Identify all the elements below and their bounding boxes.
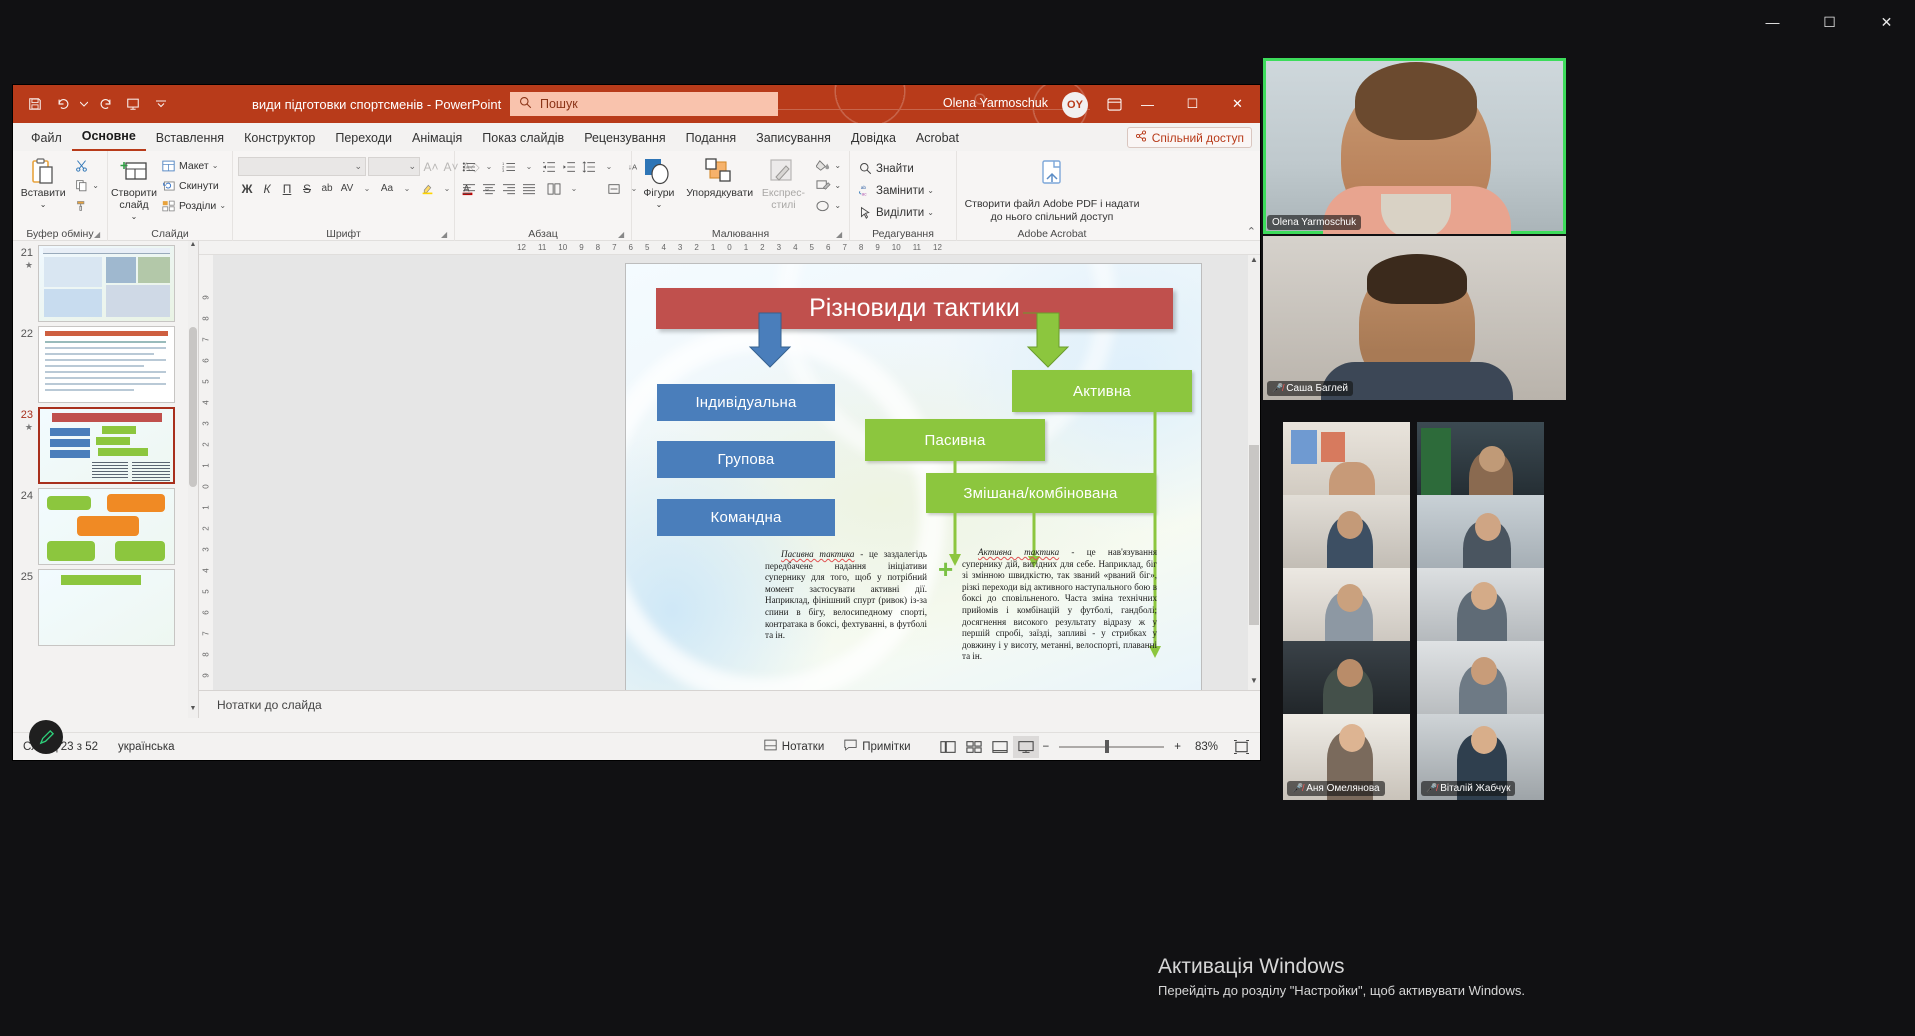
tab-review[interactable]: Рецензування xyxy=(574,128,675,151)
strikethrough-icon[interactable]: S xyxy=(298,179,316,198)
ribbon-group-slides: Створити слайд ⌄ Макет ⌄ xyxy=(108,151,233,241)
slide-canvas[interactable]: Різновиди тактики І xyxy=(626,264,1201,697)
passive-tactic-paragraph[interactable]: Пасивна тактика - це заздалегідь передба… xyxy=(765,549,927,642)
status-right-group: Нотатки Примітки xyxy=(754,736,1260,758)
ribbon: Вставити ⌄ ⌄ xyxy=(13,151,1260,241)
scroll-down-icon[interactable]: ▼ xyxy=(188,705,198,718)
search-box[interactable]: Пошук xyxy=(510,92,778,116)
text-highlight-icon[interactable] xyxy=(418,179,436,198)
svg-text:3: 3 xyxy=(502,169,504,173)
video-tile-main-speaker[interactable]: Olena Yarmoschuk xyxy=(1263,58,1566,234)
font-family-select[interactable]: ⌄ xyxy=(238,157,366,176)
ruler-tick: 8 xyxy=(859,243,863,252)
tab-slideshow[interactable]: Показ слайдів xyxy=(472,128,574,151)
ruler-tick: 4 xyxy=(661,243,665,252)
thumbnail-number: 22 xyxy=(17,326,33,340)
slide-box-label: Індивідуальна xyxy=(695,394,796,411)
zoom-slider[interactable] xyxy=(1059,736,1164,758)
undo-icon[interactable] xyxy=(50,91,76,117)
zoom-knob[interactable] xyxy=(1105,740,1109,753)
shape-fill-button[interactable]: ⌄ xyxy=(813,156,844,175)
shapes-button[interactable]: Фігури ⌄ xyxy=(637,154,681,211)
video-tile-grid-10[interactable]: 🎤̸ Віталій Жабчук xyxy=(1417,714,1544,800)
ribbon-group-font: ⌄ ⌄ A˄ A˅ A◇ Ж К П S ab AV ⌄ Aa xyxy=(233,151,455,241)
paragraph-row-2: ⌄ ⌄ xyxy=(460,179,643,198)
slides-group-label: Слайди xyxy=(113,227,227,241)
numbered-list-icon[interactable]: 123 xyxy=(500,157,518,176)
new-slide-button[interactable]: Створити слайд ⌄ xyxy=(113,154,155,223)
section-label: Розділи xyxy=(179,200,216,212)
fit-slide-icon[interactable] xyxy=(1228,736,1254,758)
zoom-track xyxy=(1059,746,1164,748)
vruler-tick: 5 xyxy=(201,379,210,383)
notes-toggle-button[interactable]: Нотатки xyxy=(754,739,834,754)
editor-scroll-up-icon[interactable]: ▲ xyxy=(1248,255,1260,269)
shape-outline-icon xyxy=(816,178,831,193)
active-tactic-body: - це нав'язування супернику дій, вигідни… xyxy=(962,547,1157,661)
plus-sign: + xyxy=(938,556,953,582)
thumbnail-23[interactable]: 23 ★ xyxy=(13,403,198,484)
outer-maximize-button[interactable]: ☐ xyxy=(1801,0,1858,44)
replace-label: Замінити xyxy=(876,185,924,197)
align-center-icon[interactable] xyxy=(480,179,498,198)
thumbnail-image[interactable] xyxy=(38,407,175,484)
share-label: Спільний доступ xyxy=(1152,131,1244,145)
bulleted-list-icon[interactable] xyxy=(460,157,478,176)
thumbnail-number: 23 xyxy=(17,407,33,421)
shape-fill-dropdown-icon[interactable]: ⌄ xyxy=(834,161,841,170)
align-right-icon[interactable] xyxy=(500,179,518,198)
video-name-badge: Olena Yarmoschuk xyxy=(1267,215,1361,230)
passive-tactic-body: - це заздалегідь передбачене надання іні… xyxy=(765,549,927,640)
create-pdf-icon xyxy=(1038,160,1066,195)
ribbon-group-acrobat: Створити файл Adobe PDF і надати до ньог… xyxy=(957,151,1147,241)
notes-label: Нотатки xyxy=(782,741,824,753)
increase-font-size-icon[interactable]: A˄ xyxy=(422,157,440,176)
reset-icon xyxy=(161,178,176,193)
ruler-tick: 2 xyxy=(694,243,698,252)
quick-styles-icon xyxy=(768,157,798,187)
video-name-badge: 🎤̸ Аня Омелянова xyxy=(1287,781,1385,796)
tab-insert[interactable]: Вставлення xyxy=(146,128,234,151)
thumbnail-image[interactable] xyxy=(38,245,175,322)
arrange-icon xyxy=(704,157,736,187)
ruler-tick: 12 xyxy=(517,243,526,252)
slide-box-label: Командна xyxy=(711,509,782,526)
thumbnail-scrollbar[interactable]: ▲ ▼ xyxy=(188,241,198,718)
slideshow-view-button[interactable] xyxy=(1013,736,1039,758)
avatar[interactable]: OY xyxy=(1062,92,1088,118)
shape-effects-icon xyxy=(816,198,831,213)
search-input[interactable]: Пошук xyxy=(540,97,578,111)
columns-icon[interactable] xyxy=(545,179,563,198)
replace-button[interactable]: abac Замінити ⌄ xyxy=(855,180,937,201)
comments-label: Примітки xyxy=(862,741,910,753)
thumbnail-scroll-thumb[interactable] xyxy=(189,327,197,487)
language-indicator[interactable]: українська xyxy=(108,741,185,753)
justify-icon[interactable] xyxy=(520,179,538,198)
ruler-tick: 5 xyxy=(645,243,649,252)
video-tile-grid-9[interactable]: 🎤̸ Аня Омелянова xyxy=(1283,714,1410,800)
horizontal-ruler: 12 11 10 9 8 7 6 5 4 3 2 1 0 1 2 3 4 xyxy=(199,241,1260,255)
tab-recording[interactable]: Записування xyxy=(746,128,841,151)
qat-more-icon[interactable] xyxy=(148,91,174,117)
quick-access-toolbar[interactable] xyxy=(13,91,174,117)
clipboard-group-label: Буфер обміну xyxy=(18,227,102,241)
underline-icon[interactable]: П xyxy=(278,179,296,198)
ppt-minimize-button[interactable]: — xyxy=(1125,85,1170,123)
line-spacing-icon[interactable] xyxy=(580,157,598,176)
thumbnail-21[interactable]: 21 ★ xyxy=(13,241,198,322)
paste-dropdown-icon[interactable]: ⌄ xyxy=(40,199,47,211)
vruler-tick: 6 xyxy=(201,358,210,362)
find-icon xyxy=(858,161,873,176)
powerpoint-window: види підготовки спортсменів - PowerPoint… xyxy=(13,85,1260,760)
vruler-tick: 1 xyxy=(201,463,210,467)
slide-editor[interactable]: 12 11 10 9 8 7 6 5 4 3 2 1 0 1 2 3 4 xyxy=(199,241,1260,718)
text-shadow-icon[interactable]: ab xyxy=(318,179,336,198)
zoom-out-button[interactable]: − xyxy=(1039,741,1054,753)
section-button[interactable]: Розділи ⌄ xyxy=(158,196,229,215)
ppt-close-button[interactable]: ✕ xyxy=(1215,85,1260,123)
ruler-tick: 10 xyxy=(892,243,901,252)
ruler-tick: 7 xyxy=(842,243,846,252)
account-name: Olena Yarmoschuk xyxy=(943,96,1048,110)
outer-close-button[interactable]: ✕ xyxy=(1858,0,1915,44)
thumbnail-number: 24 xyxy=(17,488,33,502)
redo-icon[interactable] xyxy=(92,91,118,117)
ruler-tick: 6 xyxy=(629,243,633,252)
vruler-tick: 4 xyxy=(201,400,210,404)
active-tactic-lead: Активна тактика xyxy=(978,547,1059,557)
notes-icon xyxy=(764,739,777,754)
mic-muted-icon: 🎤̸ xyxy=(1426,783,1437,794)
notes-pane[interactable]: Нотатки до слайда xyxy=(199,690,1260,718)
collapse-ribbon-icon[interactable]: ⌃ xyxy=(1247,225,1256,238)
clipboard-dialog-launcher-icon[interactable]: ◢ xyxy=(94,230,104,240)
windows-activation-watermark: Активація Windows Перейдіть до розділу "… xyxy=(1158,955,1525,998)
vruler-tick: 7 xyxy=(201,631,210,635)
tab-help[interactable]: Довідка xyxy=(841,128,906,151)
ribbon-group-editing: Знайти abac Замінити ⌄ xyxy=(850,151,957,241)
slide-box-group[interactable]: Групова xyxy=(657,441,835,478)
tab-file[interactable]: Файл xyxy=(21,128,72,151)
paste-label: Вставити xyxy=(21,187,66,199)
video-participant-name: Віталій Жабчук xyxy=(1440,783,1510,794)
italic-icon[interactable]: К xyxy=(258,179,276,198)
reset-button[interactable]: Скинути xyxy=(158,176,229,195)
pen-annotation-badge[interactable] xyxy=(29,720,63,754)
tab-acrobat[interactable]: Acrobat xyxy=(906,128,969,151)
select-dropdown-icon[interactable]: ⌄ xyxy=(927,208,934,217)
line-spacing-dropdown-icon[interactable]: ⌄ xyxy=(600,157,618,176)
green-arrow-down xyxy=(1021,309,1111,379)
scissors-icon xyxy=(74,158,89,173)
shape-fill-icon xyxy=(816,158,831,173)
paste-icon xyxy=(30,157,56,187)
tab-home[interactable]: Основне xyxy=(72,126,146,151)
ruler-tick: 1 xyxy=(744,243,748,252)
find-button[interactable]: Знайти xyxy=(855,158,937,179)
align-left-icon[interactable] xyxy=(460,179,478,198)
mic-muted-icon: 🎤̸ xyxy=(1292,783,1303,794)
slide-box-active[interactable]: Активна xyxy=(1012,370,1192,412)
new-slide-icon xyxy=(120,157,148,187)
ruler-tick: 9 xyxy=(875,243,879,252)
font-group-label: Шрифт xyxy=(238,227,449,241)
search-icon xyxy=(519,96,532,112)
slide-box-passive[interactable]: Пасивна xyxy=(865,419,1045,461)
decrease-indent-icon[interactable] xyxy=(540,157,558,176)
section-icon xyxy=(161,198,176,213)
editing-group-label: Редагування xyxy=(855,227,951,241)
new-slide-label: Створити слайд xyxy=(111,187,157,211)
zoom-level[interactable]: 83% xyxy=(1185,741,1228,753)
numbered-list-dropdown-icon[interactable]: ⌄ xyxy=(520,157,538,176)
ruler-tick: 7 xyxy=(612,243,616,252)
ribbon-group-clipboard: Вставити ⌄ ⌄ xyxy=(13,151,108,241)
select-button[interactable]: Виділити ⌄ xyxy=(855,202,937,223)
ribbon-display-options-icon[interactable] xyxy=(1102,93,1126,115)
vruler-tick: 4 xyxy=(201,568,210,572)
comments-icon xyxy=(844,739,857,754)
slide-sorter-button[interactable] xyxy=(961,736,987,758)
arrange-label: Упорядкувати xyxy=(686,187,753,199)
share-icon xyxy=(1135,130,1147,145)
layout-dropdown-icon[interactable]: ⌄ xyxy=(212,161,219,170)
comments-toggle-button[interactable]: Примітки xyxy=(834,739,920,754)
section-dropdown-icon[interactable]: ⌄ xyxy=(219,201,226,210)
tab-design[interactable]: Конструктор xyxy=(234,128,325,151)
video-name-badge: 🎤̸ Віталій Жабчук xyxy=(1421,781,1515,796)
shape-effects-button[interactable]: ⌄ xyxy=(813,196,844,215)
ruler-tick: 1 xyxy=(711,243,715,252)
ribbon-group-paragraph: ⌄ 123 ⌄ ⌄ xyxy=(455,151,632,241)
slide-box-label: Пасивна xyxy=(925,432,986,449)
change-case-icon[interactable]: Aa xyxy=(378,179,396,198)
blue-arrow-down xyxy=(726,309,796,379)
reading-view-button[interactable] xyxy=(987,736,1013,758)
find-label: Знайти xyxy=(876,163,914,175)
outer-window-controls[interactable]: — ☐ ✕ xyxy=(1744,0,1915,44)
copy-button[interactable]: ⌄ xyxy=(71,176,102,195)
active-tactic-paragraph[interactable]: Активна тактика - це нав'язування суперн… xyxy=(962,547,1157,663)
replace-dropdown-icon[interactable]: ⌄ xyxy=(927,186,934,195)
svg-text:ab: ab xyxy=(860,185,866,191)
shape-outline-dropdown-icon[interactable]: ⌄ xyxy=(834,181,841,190)
thumbnail-star-icon: ★ xyxy=(17,259,33,271)
thumbnail-number: 21 xyxy=(17,245,33,259)
ruler-tick: 3 xyxy=(777,243,781,252)
ruler-tick: 3 xyxy=(678,243,682,252)
vruler-tick: 3 xyxy=(201,547,210,551)
ruler-tick: 8 xyxy=(596,243,600,252)
vruler-tick: 9 xyxy=(201,673,210,677)
shapes-dropdown-icon[interactable]: ⌄ xyxy=(656,199,663,211)
vruler-tick: 2 xyxy=(201,526,210,530)
ruler-tick: 6 xyxy=(826,243,830,252)
character-spacing-icon[interactable]: AV xyxy=(338,179,356,198)
font-dialog-launcher-icon[interactable]: ◢ xyxy=(441,230,451,240)
vruler-tick: 5 xyxy=(201,589,210,593)
quick-styles-button[interactable]: Експрес-стилі xyxy=(759,154,809,211)
slide-thumbnail-pane[interactable]: 21 ★ 22 xyxy=(13,241,199,718)
ribbon-group-drawing: Фігури ⌄ Упорядкувати Експрес-стилі xyxy=(632,151,850,241)
thumbnail-image[interactable] xyxy=(38,326,175,403)
ruler-tick: 2 xyxy=(760,243,764,252)
reset-label: Скинути xyxy=(179,180,219,192)
arrange-button[interactable]: Упорядкувати xyxy=(684,154,756,199)
layout-label: Макет xyxy=(179,160,209,172)
character-spacing-dropdown-icon[interactable]: ⌄ xyxy=(358,179,376,198)
vertical-ruler: 9 8 7 6 5 4 3 2 1 0 1 2 3 4 5 6 7 xyxy=(199,255,213,718)
thumbnail-star-icon: ★ xyxy=(17,421,33,433)
tab-view[interactable]: Подання xyxy=(676,128,746,151)
drawing-dialog-launcher-icon[interactable]: ◢ xyxy=(836,230,846,240)
vruler-tick: 6 xyxy=(201,610,210,614)
vruler-tick: 2 xyxy=(201,442,210,446)
ruler-tick: 5 xyxy=(810,243,814,252)
shape-outline-button[interactable]: ⌄ xyxy=(813,176,844,195)
status-bar: Слайд 23 з 52 українська Нотатки Примітк… xyxy=(13,732,1260,760)
vruler-tick: 1 xyxy=(201,505,210,509)
drawing-group-label: Малювання xyxy=(637,227,844,241)
cut-button[interactable] xyxy=(71,156,102,175)
thumbnail-image[interactable] xyxy=(38,569,175,646)
video-participant-name: Olena Yarmoschuk xyxy=(1272,217,1356,228)
mic-muted-icon: 🎤̸ xyxy=(1272,383,1283,394)
ruler-tick: 10 xyxy=(558,243,567,252)
slide-box-team[interactable]: Командна xyxy=(657,499,835,536)
tab-animations[interactable]: Анімація xyxy=(402,128,472,151)
ruler-tick: 11 xyxy=(538,243,546,252)
thumbnail-image[interactable] xyxy=(38,488,175,565)
highlight-dropdown-icon[interactable]: ⌄ xyxy=(438,179,456,198)
thumbnail-24[interactable]: 24 xyxy=(13,484,198,565)
align-text-icon[interactable] xyxy=(605,179,623,198)
ruler-tick: 4 xyxy=(793,243,797,252)
video-tile-second[interactable]: 🎤̸ Саша Баглей xyxy=(1263,236,1566,400)
increase-indent-icon[interactable] xyxy=(560,157,578,176)
video-participant-name: Аня Омелянова xyxy=(1306,783,1379,794)
start-slideshow-icon[interactable] xyxy=(120,91,146,117)
paragraph-group-label: Абзац xyxy=(460,227,626,241)
thumbnail-25[interactable]: 25 xyxy=(13,565,198,646)
green-connector-passive xyxy=(948,460,962,568)
vruler-tick: 7 xyxy=(201,337,210,341)
video-participant-name: Саша Баглей xyxy=(1286,383,1348,394)
paste-button[interactable]: Вставити ⌄ xyxy=(18,154,68,211)
share-button[interactable]: Спільний доступ xyxy=(1127,127,1252,148)
editor-scroll-down-icon[interactable]: ▼ xyxy=(1248,676,1260,690)
title-bar: види підготовки спортсменів - PowerPoint… xyxy=(13,85,1260,123)
replace-icon: abac xyxy=(858,183,873,198)
document-title: види підготовки спортсменів - PowerPoint xyxy=(252,97,501,112)
layout-button[interactable]: Макет ⌄ xyxy=(158,156,229,175)
svg-text:ac: ac xyxy=(861,192,867,197)
shapes-icon xyxy=(643,157,675,187)
slide-box-individual[interactable]: Індивідуальна xyxy=(657,384,835,421)
video-name-badge: 🎤̸ Саша Баглей xyxy=(1267,381,1353,396)
ppt-maximize-button[interactable]: ☐ xyxy=(1170,85,1215,123)
columns-dropdown-icon[interactable]: ⌄ xyxy=(565,179,583,198)
new-slide-dropdown-icon[interactable]: ⌄ xyxy=(131,211,138,223)
shape-effects-dropdown-icon[interactable]: ⌄ xyxy=(834,201,841,210)
work-area: 21 ★ 22 xyxy=(13,241,1260,718)
passive-tactic-lead: Пасивна тактика xyxy=(781,549,854,559)
vruler-tick: 9 xyxy=(201,295,210,299)
normal-view-button[interactable] xyxy=(935,736,961,758)
slide-box-label: Змішана/комбінована xyxy=(963,485,1117,502)
ppt-window-controls[interactable]: — ☐ ✕ xyxy=(1125,85,1260,123)
font-size-select[interactable]: ⌄ xyxy=(368,157,420,176)
thumbnail-number: 25 xyxy=(17,569,33,583)
ruler-tick: 12 xyxy=(933,243,942,252)
font-controls-row-1: ⌄ ⌄ A˄ A˅ A◇ xyxy=(238,157,480,176)
paragraph-dialog-launcher-icon[interactable]: ◢ xyxy=(618,230,628,240)
quick-styles-label: Експрес-стилі xyxy=(762,187,805,211)
watermark-line-2: Перейдіть до розділу "Настройки", щоб ак… xyxy=(1158,983,1525,998)
desktop-background: — ☐ ✕ xyxy=(0,0,1915,1036)
change-case-dropdown-icon[interactable]: ⌄ xyxy=(398,179,416,198)
editor-scroll-thumb[interactable] xyxy=(1249,445,1259,625)
create-pdf-label[interactable]: Створити файл Adobe PDF і надати до ньог… xyxy=(962,198,1142,223)
tab-transitions[interactable]: Переходи xyxy=(325,128,402,151)
slide-box-label: Активна xyxy=(1073,383,1131,400)
select-icon xyxy=(858,205,873,220)
editor-scrollbar[interactable]: ▲ ▼ ⌄ xyxy=(1248,255,1260,718)
copy-icon xyxy=(74,178,89,193)
bold-icon[interactable]: Ж xyxy=(238,179,256,198)
slide-box-label: Групова xyxy=(718,451,775,468)
thumbnail-22[interactable]: 22 xyxy=(13,322,198,403)
bulleted-list-dropdown-icon[interactable]: ⌄ xyxy=(480,157,498,176)
ruler-tick: 0 xyxy=(727,243,731,252)
watermark-line-1: Активація Windows xyxy=(1158,955,1525,979)
vruler-tick: 0 xyxy=(201,484,210,488)
copy-dropdown-icon[interactable]: ⌄ xyxy=(92,181,99,190)
ribbon-tab-strip[interactable]: Файл Основне Вставлення Конструктор Пере… xyxy=(13,123,1260,151)
outer-minimize-button[interactable]: — xyxy=(1744,0,1801,44)
select-label: Виділити xyxy=(876,207,924,219)
scroll-up-icon[interactable]: ▲ xyxy=(188,241,198,254)
zoom-in-button[interactable]: + xyxy=(1170,741,1185,753)
ruler-tick: 9 xyxy=(579,243,583,252)
format-painter-icon xyxy=(74,198,89,213)
ruler-tick: 11 xyxy=(913,243,921,252)
format-painter-button[interactable] xyxy=(71,196,102,215)
save-icon[interactable] xyxy=(22,91,48,117)
vruler-tick: 8 xyxy=(201,652,210,656)
vruler-tick: 3 xyxy=(201,421,210,425)
acrobat-group-label: Adobe Acrobat xyxy=(962,227,1142,241)
vruler-tick: 8 xyxy=(201,316,210,320)
shapes-label: Фігури xyxy=(643,187,674,199)
layout-icon xyxy=(161,158,176,173)
undo-dropdown-icon[interactable] xyxy=(78,91,90,117)
